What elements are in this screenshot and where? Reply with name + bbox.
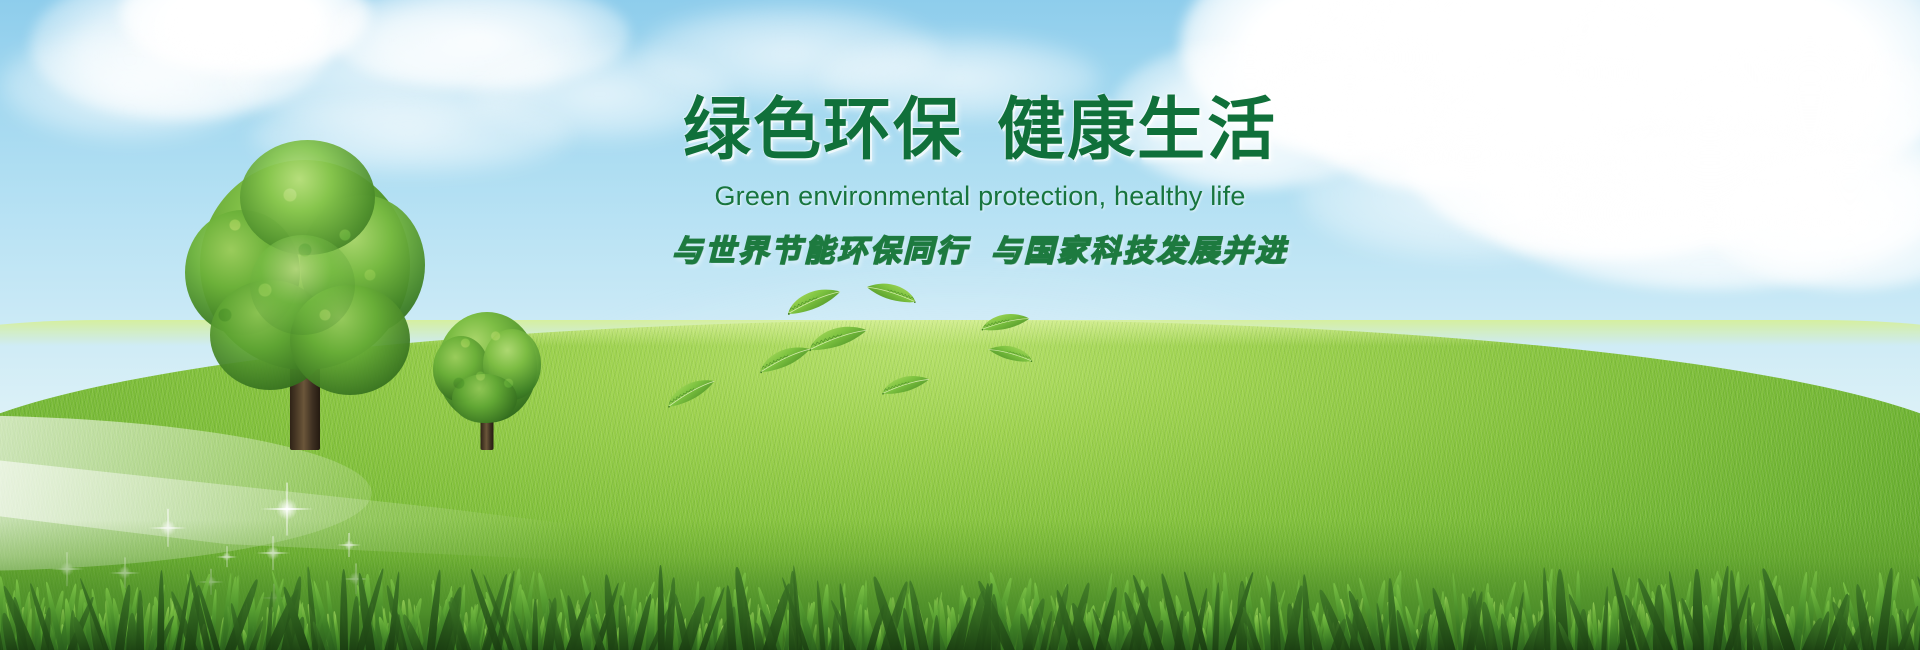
headline: 绿色环保健康生活 [620,96,1340,165]
hero-banner: 绿色环保健康生活 Green environmental protection,… [0,0,1920,650]
large-tree [180,150,430,450]
small-tree [432,310,542,450]
headline-right: 健康生活 [997,91,1277,170]
foreground-grass-band [0,520,1920,650]
small-tree-canopy [433,310,541,428]
subtitle-english: Green environmental protection, healthy … [620,181,1340,212]
large-tree-canopy [180,150,430,400]
calligraphy-right: 与国家科技发展并进 [991,234,1288,269]
headline-left: 绿色环保 [683,91,963,170]
calligraphy-slogan: 与世界节能环保同行与国家科技发展并进 [620,226,1340,270]
calligraphy-left: 与世界节能环保同行 [672,234,969,269]
banner-copy: 绿色环保健康生活 Green environmental protection,… [620,96,1340,270]
